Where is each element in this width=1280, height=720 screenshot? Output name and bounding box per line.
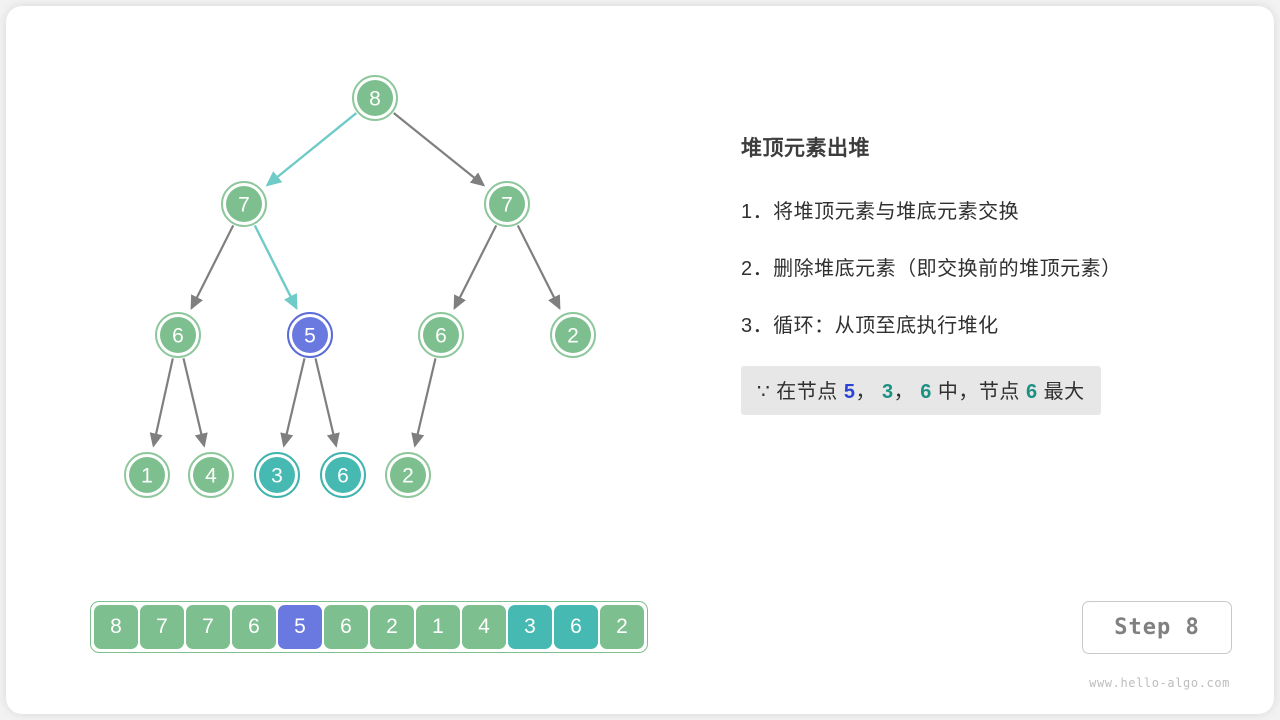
array-cell[interactable]: 4: [462, 605, 506, 649]
step-line-2: 2．删除堆底元素（即交换前的堆顶元素）: [741, 252, 1211, 281]
tree-node-label: 1: [141, 465, 153, 488]
tree-edge: [518, 225, 560, 308]
array-cell[interactable]: 7: [140, 605, 184, 649]
array-cell[interactable]: 6: [554, 605, 598, 649]
tree-node[interactable]: 3: [255, 453, 299, 497]
conclusion-sep-1: ，: [855, 381, 876, 403]
tree-node[interactable]: 6: [419, 313, 463, 357]
step-line-3: 3．循环：从顶至底执行堆化: [741, 309, 1211, 338]
tree-edge-highlighted: [267, 113, 356, 185]
tree-node[interactable]: 8: [353, 76, 397, 120]
tree-node-label: 2: [567, 325, 579, 348]
conclusion-value-4: 6: [1026, 381, 1038, 403]
page-title: 堆顶元素出堆: [741, 136, 1211, 161]
conclusion-box: ∵ 在节点 5， 3， 6 中，节点 6 最大: [741, 366, 1101, 415]
tree-edge: [454, 225, 496, 308]
conclusion-sep-2: ，: [894, 381, 915, 403]
array-cell[interactable]: 3: [508, 605, 552, 649]
tree-node-label: 6: [337, 465, 349, 488]
tree-edge: [191, 225, 233, 308]
conclusion-prefix: ∵ 在节点: [757, 381, 838, 403]
tree-node-label: 7: [238, 194, 250, 217]
conclusion-suffix: 最大: [1044, 381, 1085, 403]
tree-edge: [415, 358, 436, 445]
tree-node[interactable]: 2: [386, 453, 430, 497]
tree-node-label: 4: [205, 465, 217, 488]
conclusion-value-1: 5: [844, 381, 856, 403]
tree-edge: [394, 113, 484, 185]
conclusion-middle: 中，节点: [938, 381, 1020, 403]
tree-node[interactable]: 7: [222, 182, 266, 226]
conclusion-value-3: 6: [920, 381, 932, 403]
page-root: 877656214362 堆顶元素出堆 1．将堆顶元素与堆底元素交换 2．删除堆…: [0, 0, 1280, 720]
tree-node-label: 6: [172, 325, 184, 348]
array-cell[interactable]: 8: [94, 605, 138, 649]
tree-node[interactable]: 2: [551, 313, 595, 357]
tree-node-label: 2: [402, 465, 414, 488]
tree-node-label: 6: [435, 325, 447, 348]
array-cell[interactable]: 1: [416, 605, 460, 649]
tree-edge-highlighted: [255, 225, 297, 308]
tree-node[interactable]: 7: [485, 182, 529, 226]
tree-edges: [153, 113, 559, 446]
binary-tree-diagram: 877656214362: [0, 0, 720, 560]
tree-node-label: 3: [271, 465, 283, 488]
watermark: www.hello-algo.com: [1070, 676, 1230, 690]
array-cell[interactable]: 6: [232, 605, 276, 649]
array-cell[interactable]: 6: [324, 605, 368, 649]
explanation-panel: 堆顶元素出堆 1．将堆顶元素与堆底元素交换 2．删除堆底元素（即交换前的堆顶元素…: [741, 136, 1211, 415]
array-cell[interactable]: 5: [278, 605, 322, 649]
heap-array: 877656214362: [90, 601, 648, 653]
tree-node-label: 5: [304, 325, 316, 348]
tree-node[interactable]: 6: [156, 313, 200, 357]
step-badge: Step 8: [1082, 601, 1232, 654]
tree-nodes: 877656214362: [125, 76, 595, 497]
tree-edge: [184, 358, 205, 445]
tree-node[interactable]: 6: [321, 453, 365, 497]
tree-edge: [316, 358, 337, 445]
tree-node-label: 8: [369, 88, 381, 111]
step-line-1: 1．将堆顶元素与堆底元素交换: [741, 195, 1211, 224]
array-cell[interactable]: 2: [370, 605, 414, 649]
conclusion-value-2: 3: [882, 381, 894, 403]
array-cell[interactable]: 7: [186, 605, 230, 649]
tree-edge: [153, 358, 172, 445]
array-cell[interactable]: 2: [600, 605, 644, 649]
tree-node[interactable]: 5: [288, 313, 332, 357]
tree-node[interactable]: 4: [189, 453, 233, 497]
tree-node-label: 7: [501, 194, 513, 217]
tree-node[interactable]: 1: [125, 453, 169, 497]
tree-edge: [284, 358, 305, 445]
